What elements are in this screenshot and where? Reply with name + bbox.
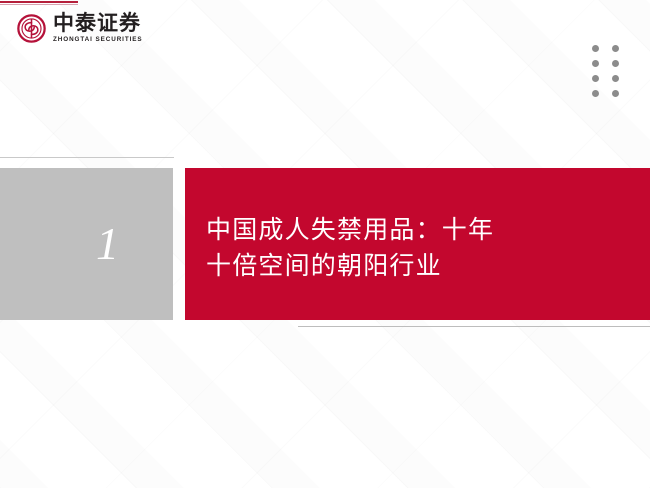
top-left-accent-bar [0,1,78,3]
dot [612,60,619,67]
top-left-accent-bar-secondary [0,4,78,5]
dot [592,90,599,97]
brand-logo: 中泰证券 ZHONGTAI SECURITIES [17,13,141,43]
section-number-label: 1 [0,168,173,320]
brand-name-cn: 中泰证券 [53,13,141,34]
dot [592,60,599,67]
brand-name-en: ZHONGTAI SECURITIES [53,37,143,43]
slide-canvas: 中泰证券 ZHONGTAI SECURITIES 1 中国成人失禁用品：十年 十… [0,0,650,488]
title-bottom-rule [298,326,650,327]
dot [612,75,619,82]
dot [592,45,599,52]
dot [612,45,619,52]
zhongtai-circle-emblem-icon [17,14,46,43]
slide-title: 中国成人失禁用品：十年 十倍空间的朝阳行业 [206,212,636,283]
brand-logo-text: 中泰证券 ZHONGTAI SECURITIES [53,13,141,43]
decorative-dot-grid [592,45,624,105]
section-top-rule [0,157,174,158]
dot [612,90,619,97]
dot [592,75,599,82]
